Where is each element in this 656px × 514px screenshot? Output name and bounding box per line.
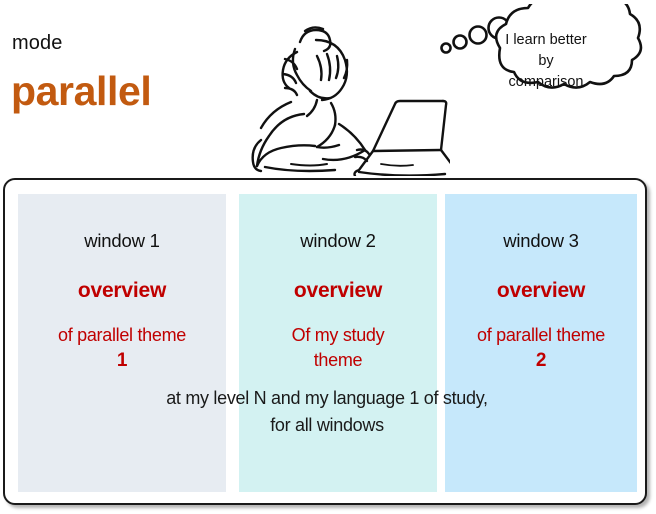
window-column-2-sub-line-1: Of my study — [292, 325, 385, 345]
window-column-3-title: window 3 — [445, 230, 637, 252]
window-column-1-sub-line-1: of parallel theme — [58, 325, 186, 345]
window-column-3[interactable]: window 3 overview of parallel theme 2 — [445, 194, 637, 492]
thought-bubble-line-2: by — [456, 51, 636, 72]
thought-bubble-line-1: I learn better — [456, 30, 636, 51]
window-column-2-subtitle: Of my study theme — [239, 323, 437, 373]
person-studying-at-laptop-illustration — [205, 4, 450, 176]
window-column-3-sub-line-1: of parallel theme — [477, 325, 605, 345]
windows-panel: window 1 overview of parallel theme 1 wi… — [3, 178, 647, 505]
window-column-1-heading: overview — [18, 279, 226, 303]
window-column-2-sub-line-2: theme — [239, 348, 437, 373]
mode-label: mode — [12, 32, 62, 55]
window-column-2-title: window 2 — [239, 230, 437, 252]
thought-bubble-line-3: comparison — [456, 72, 636, 93]
window-column-2-heading: overview — [239, 279, 437, 303]
window-column-1[interactable]: window 1 overview of parallel theme 1 — [18, 194, 226, 492]
thought-bubble-text: I learn better by comparison — [456, 30, 636, 93]
window-column-1-subtitle: of parallel theme 1 — [18, 323, 226, 373]
window-column-3-subtitle: of parallel theme 2 — [445, 323, 637, 373]
window-column-3-sub-line-2: 2 — [445, 348, 637, 373]
window-column-1-sub-line-2: 1 — [18, 348, 226, 373]
window-column-2[interactable]: window 2 overview Of my study theme — [239, 194, 437, 492]
window-column-1-title: window 1 — [18, 230, 226, 252]
windows-columns: window 1 overview of parallel theme 1 wi… — [5, 180, 645, 503]
window-column-3-heading: overview — [445, 279, 637, 303]
header: mode parallel — [0, 0, 656, 178]
mode-value: parallel — [11, 68, 151, 115]
